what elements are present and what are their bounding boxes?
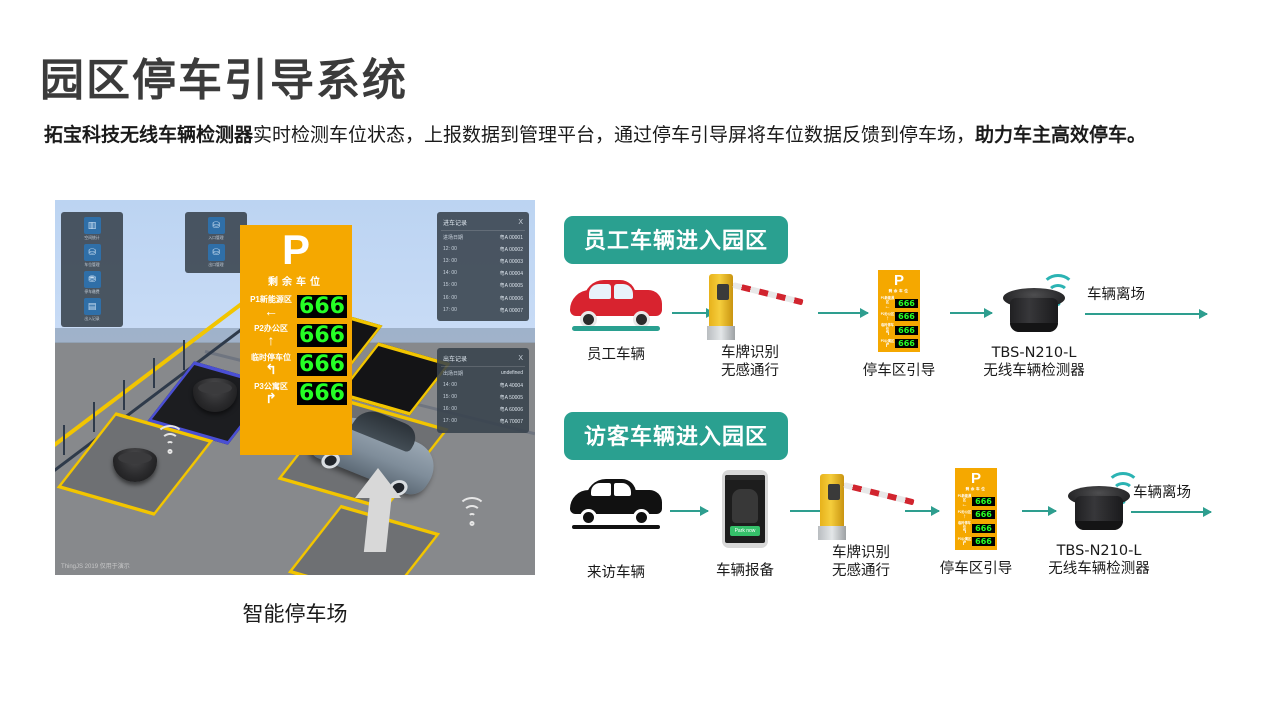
fence-post	[63, 425, 65, 455]
parking-p-letter: P	[245, 229, 347, 271]
scene-tool-label: 出入记录	[80, 316, 105, 322]
exit-record-panel-title: 出车记录	[443, 354, 467, 363]
guide-zone-count: 666	[297, 353, 347, 376]
wifi-signal-icon	[455, 500, 489, 526]
exit-record-panel[interactable]: 出车记录 X 出场日期undefined 14: 00粤A 40004 15: …	[437, 348, 529, 433]
flow2-caption-detector-name: 无线车辆检测器	[1040, 560, 1158, 578]
remaining-spaces-label: 剩余车位	[245, 273, 347, 288]
flow2-exit-label: 车辆离场	[1133, 481, 1191, 502]
flow2-node-registration: Park now 车辆报备	[700, 470, 790, 580]
scene-toolbar-left[interactable]: ▥ 空间统计 ⛁ 车位管理 ⛃ 停车缴费 ▤ 出入记录	[61, 212, 123, 327]
row-right: 粤A 00004	[500, 270, 523, 277]
scene-caption: 智能停车场	[55, 598, 535, 628]
guide-zone-count: 666	[297, 324, 347, 347]
scene-tool-出入记录[interactable]: ▤ 出入记录	[79, 298, 105, 322]
direction-arrow-icon: ↱	[880, 343, 895, 349]
row-right: 粤A 00003	[500, 258, 523, 265]
flow1-node-anpr-gate: 车牌识别 无感通行	[690, 272, 810, 380]
table-row: 15: 00粤A 00005	[441, 280, 525, 292]
mini-zone-count: 666	[895, 339, 918, 348]
guide-sign-row: P2办公区↑ 666	[245, 323, 347, 347]
flow2-exit-arrow	[1131, 511, 1211, 513]
fence-post	[153, 358, 155, 388]
row-left: 14: 00	[443, 382, 457, 389]
wireless-vehicle-detector-icon	[1068, 486, 1130, 534]
table-row: 14: 00粤A 40004	[441, 379, 525, 391]
row-right: 粤A 40004	[500, 382, 523, 389]
flow1-exit-label: 车辆离场	[1087, 283, 1145, 304]
mini-zone-count: 666	[972, 510, 995, 519]
flow1-caption-employee-car: 员工车辆	[566, 346, 666, 364]
guide-zone-label: 临时停车位↰	[245, 352, 297, 376]
row-right: 粤A 00001	[500, 234, 523, 241]
flow1-node-parking-guide: P 剩余车位 P1新能源区←666 P2办公区↑666 临时停车位↰666 P3…	[855, 270, 943, 380]
chart-icon: ▥	[84, 217, 101, 234]
floor-direction-arrow	[355, 468, 401, 552]
mini-p-letter: P	[957, 471, 995, 486]
flow-badge-visitor: 访客车辆进入园区	[564, 412, 788, 460]
row-right: 粤A 00005	[500, 282, 523, 289]
exit-record-panel-header: 出车记录 X	[441, 353, 525, 367]
mini-zone-label: 临时停车位	[881, 323, 894, 331]
row-right: 粤A 50005	[500, 394, 523, 401]
flow2-caption-detector-model: TBS-N210-L	[1040, 542, 1158, 560]
mini-remaining-label: 剩余车位	[957, 487, 995, 492]
scene-tool-车位管理[interactable]: ⛁ 车位管理	[79, 244, 105, 268]
scene-tool-入口管理[interactable]: ⛁ 入口管理	[203, 217, 229, 241]
scene-tool-出口管理[interactable]: ⛁ 出口管理	[203, 244, 229, 268]
scene-tool-label: 停车缴费	[80, 289, 105, 295]
flow1-caption-parking-guide: 停车区引导	[855, 362, 943, 380]
row-right: 粤A 60006	[500, 406, 523, 413]
barrier-gate-icon	[695, 272, 805, 344]
mini-p-letter: P	[880, 273, 918, 288]
table-row: 12: 00粤A 00002	[441, 243, 525, 255]
table-row: 16: 00粤A 60006	[441, 404, 525, 416]
table-row: 进场日期粤A 00001	[441, 231, 525, 243]
barrier-gate-icon	[806, 472, 916, 544]
mini-zone-label: P3公寓区	[881, 339, 894, 343]
fence-post	[93, 402, 95, 432]
direction-arrow-icon: ↰	[880, 331, 895, 337]
row-right: 粤A 00007	[500, 307, 523, 314]
direction-arrow-icon: ↰	[957, 529, 972, 535]
record-icon: ▤	[84, 298, 101, 315]
table-row: 15: 00粤A 50005	[441, 391, 525, 403]
smartphone-icon: Park now	[722, 470, 768, 548]
direction-arrow-icon: ↑	[880, 316, 895, 322]
row-left: 13: 00	[443, 258, 457, 265]
row-left: 12: 00	[443, 246, 457, 253]
scene-tool-label: 空间统计	[80, 235, 105, 241]
table-row: 14: 00粤A 00004	[441, 268, 525, 280]
scene-toolbar-right[interactable]: ⛁ 入口管理 ⛁ 出口管理	[185, 212, 247, 273]
direction-arrow-icon: ←	[957, 502, 972, 508]
parking-lot-3d-scene[interactable]: ▥ 空间统计 ⛁ 车位管理 ⛃ 停车缴费 ▤ 出入记录 ⛁ 入口管理	[55, 200, 535, 575]
direction-arrow-icon: ↑	[957, 514, 972, 520]
row-left: 进场日期	[443, 234, 463, 241]
entry-record-panel-title: 进车记录	[443, 218, 467, 227]
row-left: 14: 00	[443, 270, 457, 277]
row-left: 15: 00	[443, 394, 457, 401]
phone-car-image	[732, 489, 758, 523]
guide-zone-label: P1新能源区←	[245, 294, 297, 318]
direction-arrow-icon: ←	[245, 305, 297, 318]
mini-zone-count: 666	[972, 524, 995, 533]
phone-status-bar	[725, 475, 765, 480]
subtitle-bold-lead: 拓宝科技无线车辆检测器	[44, 124, 253, 146]
mini-zone-count: 666	[895, 326, 918, 335]
close-icon[interactable]: X	[518, 219, 523, 226]
scene-tool-空间统计[interactable]: ▥ 空间统计	[79, 217, 105, 241]
mini-zone-label: P2办公区	[958, 510, 971, 514]
mini-zone-label: 临时停车位	[958, 521, 971, 529]
row-left: 16: 00	[443, 406, 457, 413]
entry-record-panel[interactable]: 进车记录 X 进场日期粤A 00001 12: 00粤A 00002 13: 0…	[437, 212, 529, 321]
row-left: 15: 00	[443, 282, 457, 289]
flow1-exit-arrow	[1085, 313, 1207, 315]
flow2-node-parking-guide: P 剩余车位 P1新能源区←666 P2办公区↑666 临时停车位↰666 P3…	[932, 468, 1020, 578]
row-right: 粤A 00006	[500, 295, 523, 302]
flow2-caption-registration: 车辆报备	[700, 562, 790, 580]
row-left: 出场日期	[443, 370, 463, 377]
red-car-icon	[570, 282, 662, 328]
mini-zone-label: P2办公区	[881, 312, 894, 316]
guide-sign-row: 临时停车位↰ 666	[245, 352, 347, 376]
table-row: 17: 00粤A 00007	[441, 304, 525, 316]
mini-zone-label: P1新能源区	[881, 296, 894, 304]
guide-zone-count: 666	[297, 382, 347, 405]
fence-post	[123, 380, 125, 410]
wireless-vehicle-detector-icon	[1003, 288, 1065, 336]
flow1-node-detector: TBS-N210-L 无线车辆检测器	[975, 282, 1093, 380]
scene-tool-label: 车位管理	[80, 262, 105, 268]
table-row: 16: 00粤A 00006	[441, 292, 525, 304]
parking-guide-sign-icon: P 剩余车位 P1新能源区←666 P2办公区↑666 临时停车位↰666 P3…	[955, 468, 997, 550]
flow1-caption-detector-model: TBS-N210-L	[975, 344, 1093, 362]
exit-gate-icon: ⛁	[208, 244, 225, 261]
parking-lock-icon: ⛁	[84, 244, 101, 261]
row-left: 17: 00	[443, 307, 457, 314]
parking-guidance-screen: P 剩余车位 P1新能源区← 666 P2办公区↑ 666 临时停车位↰ 666…	[240, 225, 352, 455]
guide-sign-row: P3公寓区↱ 666	[245, 381, 347, 405]
table-row: 17: 00粤A 70007	[441, 416, 525, 428]
black-car-icon	[570, 480, 662, 526]
page-subtitle: 拓宝科技无线车辆检测器实时检测车位状态，上报数据到管理平台，通过停车引导屏将车位…	[44, 120, 1184, 151]
flow2-caption-anpr-line2: 无感通行	[806, 562, 916, 580]
entry-record-panel-header: 进车记录 X	[441, 217, 525, 231]
fence-post	[183, 340, 185, 370]
parking-guide-sign-icon: P 剩余车位 P1新能源区←666 P2办公区↑666 临时停车位↰666 P3…	[878, 270, 920, 352]
row-right: 粤A 00002	[500, 246, 523, 253]
guide-zone-label: P2办公区↑	[245, 323, 297, 347]
payment-icon: ⛃	[84, 271, 101, 288]
scene-tool-停车缴费[interactable]: ⛃ 停车缴费	[79, 271, 105, 295]
park-now-button[interactable]: Park now	[730, 526, 760, 536]
wifi-signal-icon	[153, 428, 187, 454]
scene-tool-label: 出口管理	[204, 262, 229, 268]
row-left: 16: 00	[443, 295, 457, 302]
flow2-node-visitor-car: 来访车辆	[566, 480, 666, 582]
row-right: undefined	[501, 370, 523, 377]
guide-zone-count: 666	[297, 295, 347, 318]
direction-arrow-icon: ↰	[245, 363, 297, 376]
mini-zone-label: P3公寓区	[958, 537, 971, 541]
guide-sign-row: P1新能源区← 666	[245, 294, 347, 318]
direction-arrow-icon: ↱	[957, 541, 972, 547]
subtitle-body: 实时检测车位状态，上报数据到管理平台，通过停车引导屏将车位数据反馈到停车场，	[253, 124, 975, 146]
mini-zone-count: 666	[972, 537, 995, 546]
direction-arrow-icon: ←	[880, 304, 895, 310]
flow1-caption-anpr-line2: 无感通行	[690, 362, 810, 380]
flow1-caption-detector-name: 无线车辆检测器	[975, 362, 1093, 380]
mini-zone-count: 666	[972, 497, 995, 506]
direction-arrow-icon: ↑	[245, 334, 297, 347]
table-row: 出场日期undefined	[441, 367, 525, 379]
table-row: 13: 00粤A 00003	[441, 255, 525, 267]
flow1-node-employee-car: 员工车辆	[566, 282, 666, 364]
mini-zone-label: P1新能源区	[958, 494, 971, 502]
flow2-caption-visitor-car: 来访车辆	[566, 564, 666, 582]
mini-remaining-label: 剩余车位	[880, 289, 918, 294]
row-left: 17: 00	[443, 418, 457, 425]
flow2-node-anpr-gate: 车牌识别 无感通行	[806, 472, 916, 580]
mini-zone-count: 666	[895, 312, 918, 321]
flow2-caption-anpr-line1: 车牌识别	[806, 544, 916, 562]
entry-gate-icon: ⛁	[208, 217, 225, 234]
direction-arrow-icon: ↱	[245, 392, 297, 405]
close-icon[interactable]: X	[518, 355, 523, 362]
flow2-caption-parking-guide: 停车区引导	[932, 560, 1020, 578]
row-right: 粤A 70007	[500, 418, 523, 425]
subtitle-bold-tail: 助力车主高效停车。	[975, 124, 1146, 146]
mini-zone-count: 666	[895, 299, 918, 308]
scene-watermark: ThingJS 2019 仅用于演示	[61, 561, 130, 570]
page-title: 园区停车引导系统	[40, 44, 408, 108]
scene-tool-label: 入口管理	[204, 235, 229, 241]
flow1-caption-anpr-line1: 车牌识别	[690, 344, 810, 362]
flow-badge-employee: 员工车辆进入园区	[564, 216, 788, 264]
guide-zone-label: P3公寓区↱	[245, 381, 297, 405]
